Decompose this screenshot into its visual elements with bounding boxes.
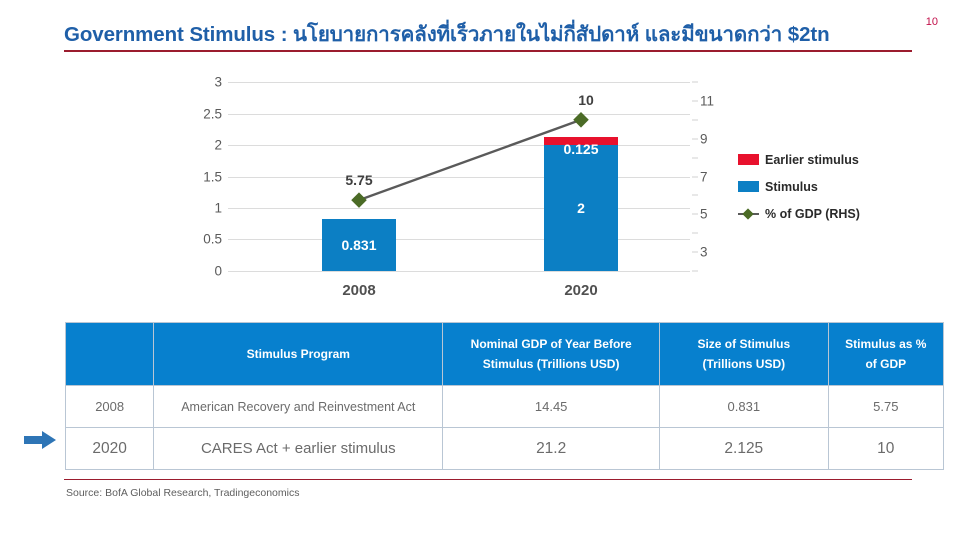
header-line: Nominal GDP of Year Before <box>443 334 659 354</box>
cell-year: 2008 <box>66 386 154 428</box>
page-number: 10 <box>926 16 938 28</box>
category-label-2008: 2008 <box>342 282 375 299</box>
cell-program: CARES Act + earlier stimulus <box>154 428 443 470</box>
table-header-stimulus-pct-gdp: Stimulus as % of GDP <box>828 323 943 386</box>
table-row[interactable]: 2020 CARES Act + earlier stimulus 21.2 2… <box>66 428 944 470</box>
left-axis-tick: 0.5 <box>186 232 222 247</box>
header-line: Stimulus (Trillions USD) <box>443 354 659 374</box>
header-line: Stimulus as % <box>829 334 943 354</box>
legend-label: % of GDP (RHS) <box>765 207 860 221</box>
left-axis-tick: 2 <box>186 137 222 152</box>
legend-item-pct-of-gdp[interactable]: % of GDP (RHS) <box>738 200 918 227</box>
cell-stimulus-pct-gdp: 10 <box>828 428 943 470</box>
table-header-size-of-stimulus: Size of Stimulus (Trillions USD) <box>660 323 829 386</box>
source-note: Source: BofA Global Research, Tradingeco… <box>66 487 299 499</box>
gdp-percent-line <box>228 82 690 271</box>
legend-swatch-icon <box>738 154 759 165</box>
table-header-row: Stimulus Program Nominal GDP of Year Bef… <box>66 323 944 386</box>
stimulus-table: Stimulus Program Nominal GDP of Year Bef… <box>65 322 944 470</box>
stimulus-chart: 0 0.5 1 1.5 2 2.5 3 3 5 7 9 11 <box>190 70 790 310</box>
left-axis-tick: 2.5 <box>186 106 222 121</box>
chart-left-axis: 0 0.5 1 1.5 2 2.5 3 <box>184 82 222 271</box>
header-line: (Trillions USD) <box>660 354 828 374</box>
footer-divider <box>64 479 912 480</box>
legend-label: Earlier stimulus <box>765 153 859 167</box>
line-point-label-2020: 10 <box>578 92 594 108</box>
page-title: Government Stimulus : นโยบายการคลังที่เร… <box>64 18 830 51</box>
right-axis-tick: 9 <box>700 131 730 146</box>
cell-nominal-gdp: 14.45 <box>443 386 660 428</box>
legend-item-stimulus[interactable]: Stimulus <box>738 173 918 200</box>
cell-year: 2020 <box>66 428 154 470</box>
left-axis-tick: 1 <box>186 201 222 216</box>
header-line: of GDP <box>829 354 943 374</box>
right-axis-tick: 11 <box>700 93 730 108</box>
legend-item-earlier-stimulus[interactable]: Earlier stimulus <box>738 146 918 173</box>
legend-line-diamond-icon <box>738 208 759 219</box>
table-header-nominal-gdp: Nominal GDP of Year Before Stimulus (Tri… <box>443 323 660 386</box>
chart-right-axis: 3 5 7 9 11 <box>700 82 740 271</box>
cell-program: American Recovery and Reinvestment Act <box>154 386 443 428</box>
cell-size-of-stimulus: 2.125 <box>660 428 829 470</box>
right-axis-tick: 5 <box>700 207 730 222</box>
right-axis-tick: 3 <box>700 245 730 260</box>
table-header-program: Stimulus Program <box>154 323 443 386</box>
chart-legend: Earlier stimulus Stimulus % of GDP (RHS) <box>738 146 918 227</box>
left-axis-tick: 0 <box>186 264 222 279</box>
chart-plot-area: 0.831 2 0.125 5.75 10 2008 2020 <box>228 82 690 271</box>
title-divider <box>64 50 912 52</box>
line-point-label-2008: 5.75 <box>345 172 372 188</box>
header-line: Stimulus Program <box>154 344 442 364</box>
category-label-2020: 2020 <box>564 282 597 299</box>
legend-label: Stimulus <box>765 180 818 194</box>
legend-swatch-icon <box>738 181 759 192</box>
table-header-year <box>66 323 154 386</box>
cell-nominal-gdp: 21.2 <box>443 428 660 470</box>
header-line: Size of Stimulus <box>660 334 828 354</box>
cell-size-of-stimulus: 0.831 <box>660 386 829 428</box>
left-axis-tick: 1.5 <box>186 169 222 184</box>
left-axis-tick: 3 <box>186 75 222 90</box>
row-highlight-arrow-icon <box>22 428 60 452</box>
cell-stimulus-pct-gdp: 5.75 <box>828 386 943 428</box>
table-row[interactable]: 2008 American Recovery and Reinvestment … <box>66 386 944 428</box>
right-axis-tick: 7 <box>700 169 730 184</box>
